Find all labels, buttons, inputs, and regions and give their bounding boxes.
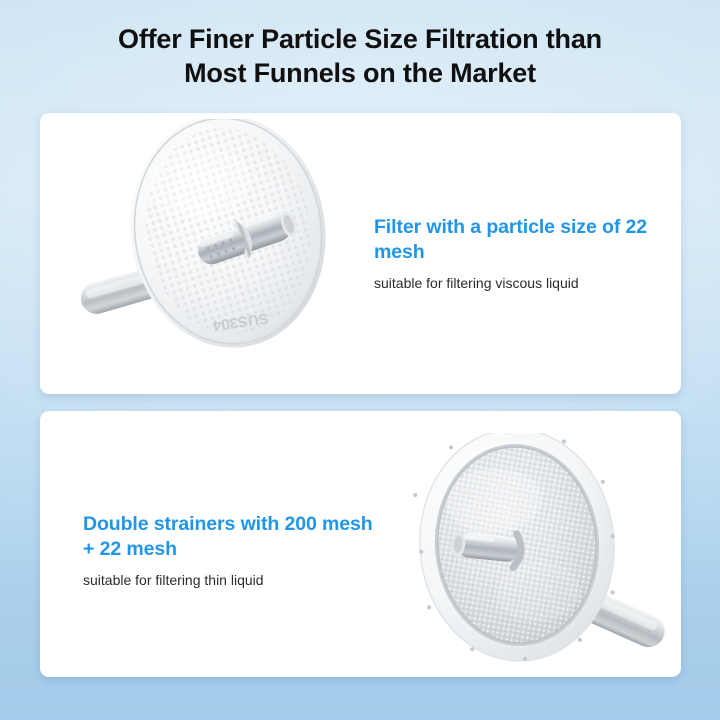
card-2-text-block: Double strainers with 200 mesh + 22 mesh… bbox=[83, 512, 383, 589]
double-mesh-strainer-photo bbox=[385, 433, 681, 673]
feature-card-single-strainer: SUS304 Fil bbox=[40, 113, 681, 394]
page-title-line-1: Offer Finer Particle Size Filtration tha… bbox=[0, 22, 720, 56]
card-1-headline: Filter with a particle size of 22 mesh bbox=[374, 215, 664, 265]
card-2-subline: suitable for filtering thin liquid bbox=[83, 571, 383, 589]
infographic-page: Offer Finer Particle Size Filtration tha… bbox=[0, 0, 720, 720]
card-2-headline: Double strainers with 200 mesh + 22 mesh bbox=[83, 512, 383, 562]
feature-card-double-strainer: Double strainers with 200 mesh + 22 mesh… bbox=[40, 411, 681, 677]
page-title: Offer Finer Particle Size Filtration tha… bbox=[0, 22, 720, 90]
page-title-line-2: Most Funnels on the Market bbox=[0, 56, 720, 90]
card-1-text-block: Filter with a particle size of 22 mesh s… bbox=[374, 215, 664, 292]
card-1-subline: suitable for filtering viscous liquid bbox=[374, 274, 664, 292]
single-mesh-strainer-photo: SUS304 bbox=[78, 119, 378, 364]
